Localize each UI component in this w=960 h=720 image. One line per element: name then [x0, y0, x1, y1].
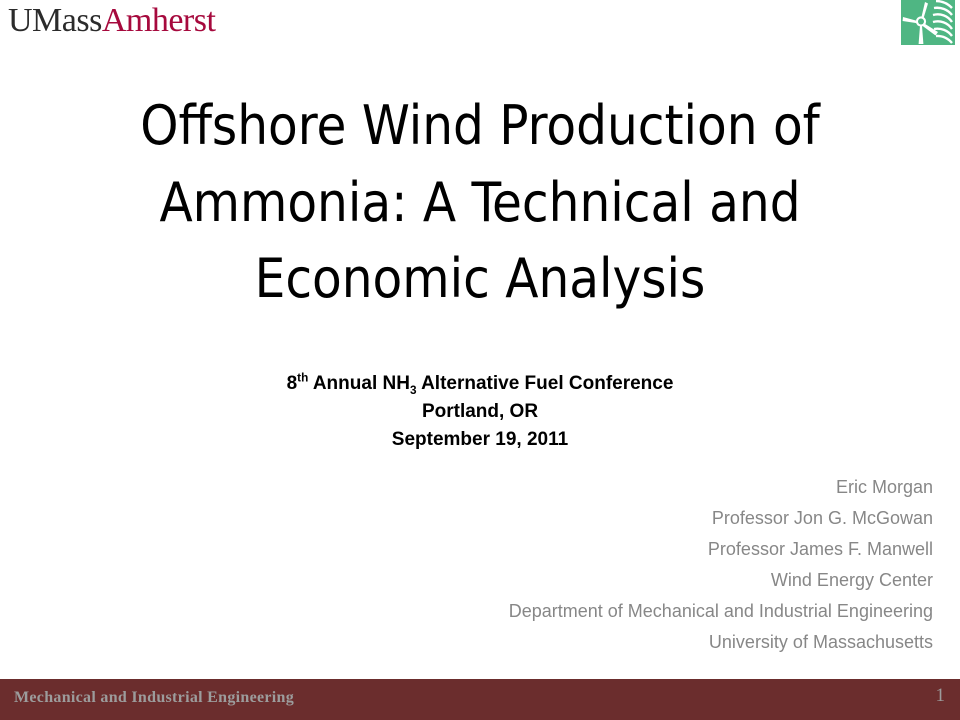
footer-bar: Mechanical and Industrial Engineering 1 — [0, 679, 960, 720]
subtitle-conference-line: 8th Annual NH3 Alternative Fuel Conferen… — [96, 370, 864, 398]
author-line-4: Wind Energy Center — [300, 565, 933, 596]
author-line-2: Professor Jon G. McGowan — [300, 503, 933, 534]
subtitle-conference-mid: Annual NH — [308, 373, 410, 394]
wind-turbine-logo — [900, 0, 956, 46]
subtitle-location: Portland, OR — [96, 398, 864, 426]
umass-amherst-logo: UMassAmherst — [8, 2, 215, 42]
author-line-1: Eric Morgan — [300, 472, 933, 503]
author-line-3: Professor James F. Manwell — [300, 534, 933, 565]
page-title: Offshore Wind Production of Ammonia: A T… — [96, 88, 864, 318]
author-line-5: Department of Mechanical and Industrial … — [300, 596, 933, 627]
subtitle-conference-suffix: Alternative Fuel Conference — [417, 373, 674, 394]
subtitle-date: September 19, 2011 — [96, 426, 864, 454]
subtitle-conference-prefix: 8 — [287, 373, 298, 394]
subtitle-ordinal-suffix: th — [297, 372, 308, 385]
authors-affiliation-block: Eric Morgan Professor Jon G. McGowan Pro… — [300, 472, 933, 658]
title-line-3: Economic Analysis — [96, 241, 864, 318]
author-line-6: University of Massachusetts — [300, 627, 933, 658]
footer-department-label: Mechanical and Industrial Engineering — [14, 689, 294, 707]
title-line-2: Ammonia: A Technical and — [96, 165, 864, 242]
footer-page-number: 1 — [936, 685, 946, 707]
subtitle: 8th Annual NH3 Alternative Fuel Conferen… — [96, 370, 864, 454]
umass-logo-primary-text: UMass — [8, 2, 102, 40]
title-line-1: Offshore Wind Production of — [96, 88, 864, 165]
umass-logo-accent-text: Amherst — [102, 2, 216, 40]
